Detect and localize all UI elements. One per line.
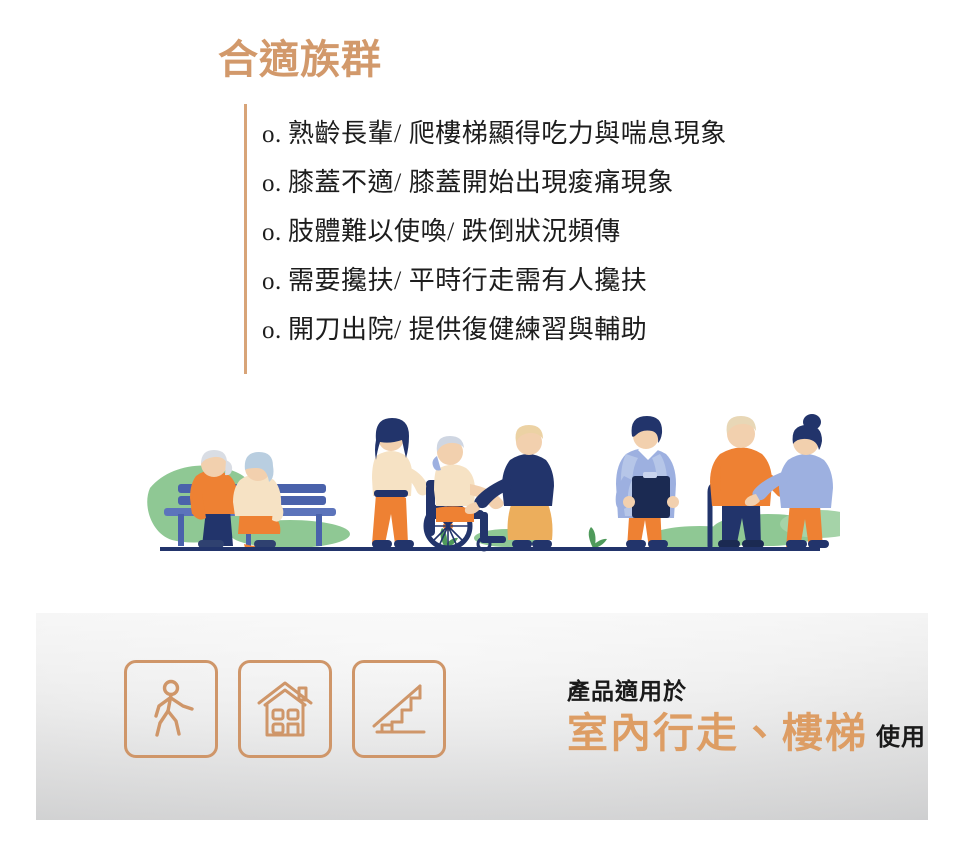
list-item-label: 熟齡長輩/ 爬樓梯顯得吃力與喘息現象 — [288, 110, 727, 158]
list-accent-rule — [244, 104, 247, 374]
elderly-care-illustration — [140, 398, 840, 558]
audience-list: o. 熟齡長輩/ 爬樓梯顯得吃力與喘息現象 o. 膝蓋不適/ 膝蓋開始出現痠痛現… — [262, 110, 902, 355]
banner-highlight-row: 室內行走、樓梯 使用 — [567, 712, 926, 755]
list-bullet-marker: o. — [262, 258, 288, 306]
caregiver-pushing-wheelchair — [372, 418, 506, 550]
stairs-icon — [352, 660, 446, 758]
slide-root: 合適族群 o. 熟齡長輩/ 爬樓梯顯得吃力與喘息現象 o. 膝蓋不適/ 膝蓋開始… — [0, 0, 960, 856]
walking-person-icon — [124, 660, 218, 758]
list-bullet-marker: o. — [262, 307, 288, 355]
list-item: o. 開刀出院/ 提供復健練習與輔助 — [262, 306, 902, 355]
banner-suffix-text: 使用 — [876, 726, 926, 755]
list-item: o. 膝蓋不適/ 膝蓋開始出現痠痛現象 — [262, 159, 902, 208]
list-item: o. 肢體難以使喚/ 跌倒狀況頻傳 — [262, 208, 902, 257]
list-bullet-marker: o. — [262, 160, 288, 208]
banner-intro-text: 產品適用於 — [567, 679, 926, 704]
ground-line — [160, 547, 820, 551]
list-bullet-marker: o. — [262, 111, 288, 159]
usage-banner: 產品適用於 室內行走、樓梯 使用 — [36, 613, 928, 820]
list-item-label: 肢體難以使喚/ 跌倒狀況頻傳 — [288, 208, 621, 256]
list-item-label: 膝蓋不適/ 膝蓋開始出現痠痛現象 — [288, 159, 674, 207]
house-glyph — [255, 679, 315, 739]
list-item-label: 開刀出院/ 提供復健練習與輔助 — [288, 306, 647, 354]
page-title: 合適族群 — [218, 38, 382, 82]
list-item-label: 需要攙扶/ 平時行走需有人攙扶 — [288, 257, 647, 305]
banner-highlight-text: 室內行走、樓梯 — [567, 712, 868, 755]
list-bullet-marker: o. — [262, 209, 288, 257]
illustration-svg — [140, 398, 840, 558]
list-item: o. 熟齡長輩/ 爬樓梯顯得吃力與喘息現象 — [262, 110, 902, 159]
usage-icon-row — [124, 660, 446, 758]
nurse-with-clipboard — [616, 416, 679, 548]
stairs-glyph — [370, 680, 428, 738]
usage-banner-text: 產品適用於 室內行走、樓梯 使用 — [567, 679, 926, 755]
list-item: o. 需要攙扶/ 平時行走需有人攙扶 — [262, 257, 902, 306]
walking-person-glyph — [145, 679, 197, 739]
house-icon — [238, 660, 332, 758]
